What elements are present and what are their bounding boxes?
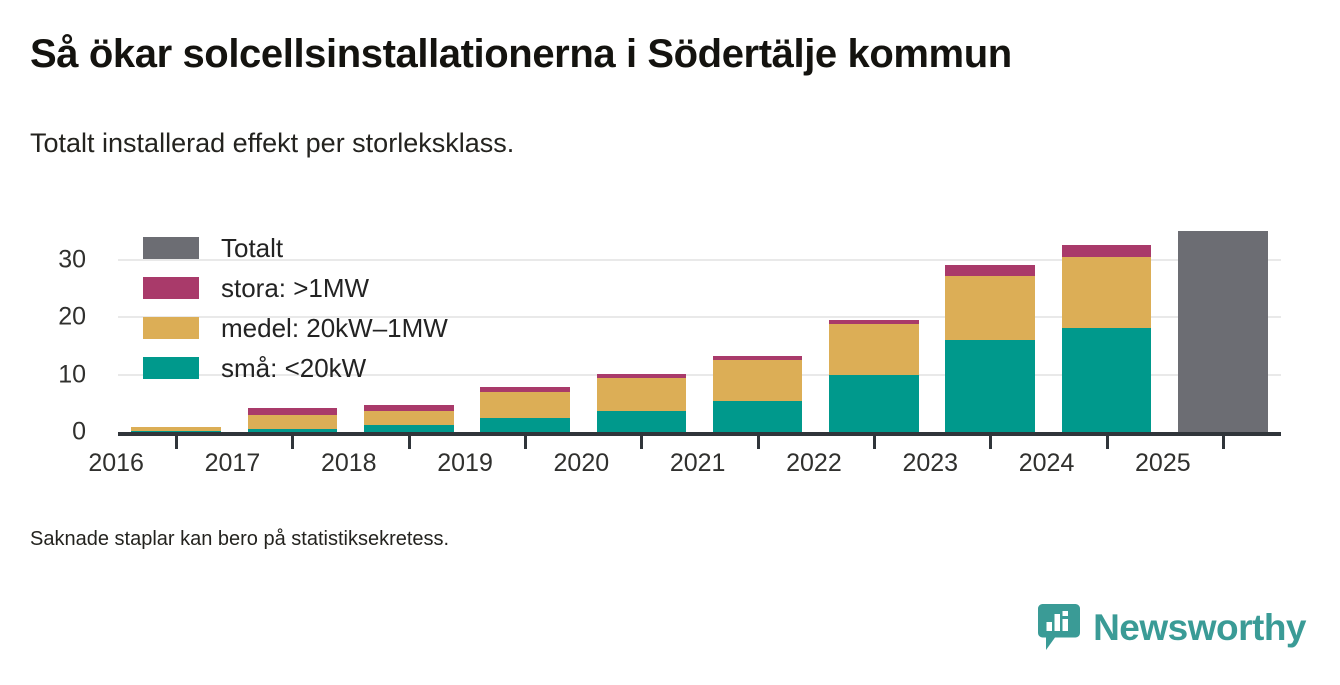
bar-group[interactable] (713, 0, 803, 432)
legend-item-medel[interactable]: medel: 20kW–1MW (143, 308, 448, 348)
y-axis-tick-label: 20 (0, 303, 86, 332)
x-axis-tick-label: 2020 (521, 449, 641, 478)
x-axis-tick-label: 2022 (754, 449, 874, 478)
bar-segment-total[interactable] (1178, 231, 1268, 432)
bar-segment-medel[interactable] (945, 276, 1035, 340)
x-axis-tick-mark (873, 436, 876, 449)
bar-group[interactable] (1178, 0, 1268, 432)
x-axis-tick-label: 2017 (172, 449, 292, 478)
bar-group[interactable] (480, 0, 570, 432)
x-axis-tick-mark (408, 436, 411, 449)
bar-segment-sma[interactable] (597, 411, 687, 432)
bar-group[interactable] (597, 0, 687, 432)
legend-label-medel: medel: 20kW–1MW (221, 313, 448, 344)
newsworthy-logo[interactable]: Newsworthy (1038, 604, 1306, 650)
bar-segment-medel[interactable] (829, 324, 919, 375)
bar-segment-medel[interactable] (1062, 257, 1152, 328)
bar-segment-medel[interactable] (248, 415, 338, 429)
bar-segment-stora[interactable] (945, 265, 1035, 276)
newsworthy-bar-chart-bubble-icon (1038, 604, 1080, 650)
x-axis-tick-mark (175, 436, 178, 449)
bar-group[interactable] (1062, 0, 1152, 432)
x-axis-tick-label: 2025 (1103, 449, 1223, 478)
x-axis-tick-label: 2023 (870, 449, 990, 478)
bar-segment-stora[interactable] (364, 405, 454, 411)
x-axis-tick-mark (757, 436, 760, 449)
y-axis-tick-label: 10 (0, 360, 86, 389)
x-axis-tick-mark (524, 436, 527, 449)
bar-group[interactable] (829, 0, 919, 432)
legend-label-stora: stora: >1MW (221, 273, 369, 304)
x-axis-tick-mark (1222, 436, 1225, 449)
bar-group[interactable] (945, 0, 1035, 432)
bar-segment-stora[interactable] (480, 387, 570, 392)
bar-segment-sma[interactable] (364, 425, 454, 432)
y-axis-tick-label: 0 (0, 418, 86, 447)
bar-segment-stora[interactable] (713, 356, 803, 360)
x-axis-tick-mark (291, 436, 294, 449)
bar-segment-medel[interactable] (480, 392, 570, 418)
x-axis-tick-label: 2019 (405, 449, 525, 478)
y-axis-tick-label: 30 (0, 246, 86, 275)
legend-label-sma: små: <20kW (221, 353, 366, 384)
legend-swatch-total (143, 237, 199, 259)
bar-segment-sma[interactable] (945, 340, 1035, 432)
bar-segment-medel[interactable] (597, 378, 687, 411)
bar-segment-medel[interactable] (131, 427, 221, 430)
legend-item-stora[interactable]: stora: >1MW (143, 268, 448, 308)
bar-segment-sma[interactable] (713, 401, 803, 432)
bar-segment-sma[interactable] (1062, 328, 1152, 432)
legend-label-total: Totalt (221, 233, 283, 264)
newsworthy-wordmark: Newsworthy (1093, 609, 1306, 646)
legend-item-sma[interactable]: små: <20kW (143, 348, 448, 388)
chart-legend: Totaltstora: >1MWmedel: 20kW–1MWsmå: <20… (143, 228, 448, 388)
x-axis-tick-label: 2021 (638, 449, 758, 478)
x-axis-tick-mark (989, 436, 992, 449)
bar-segment-sma[interactable] (829, 375, 919, 432)
legend-item-total[interactable]: Totalt (143, 228, 448, 268)
bar-segment-medel[interactable] (713, 360, 803, 401)
x-axis-tick-label: 2016 (56, 449, 176, 478)
bar-segment-stora[interactable] (1062, 245, 1152, 257)
bar-segment-stora[interactable] (597, 374, 687, 379)
x-axis-tick-mark (1106, 436, 1109, 449)
x-axis-tick-mark (640, 436, 643, 449)
bar-segment-stora[interactable] (248, 408, 338, 415)
bar-segment-sma[interactable] (480, 418, 570, 432)
bar-segment-stora[interactable] (829, 320, 919, 324)
legend-swatch-medel (143, 317, 199, 339)
legend-swatch-sma (143, 357, 199, 379)
legend-swatch-stora (143, 277, 199, 299)
chart-footnote: Saknade staplar kan bero på statistiksek… (30, 528, 449, 551)
bar-segment-medel[interactable] (364, 411, 454, 425)
x-axis-tick-label: 2018 (289, 449, 409, 478)
x-axis-tick-label: 2024 (987, 449, 1107, 478)
